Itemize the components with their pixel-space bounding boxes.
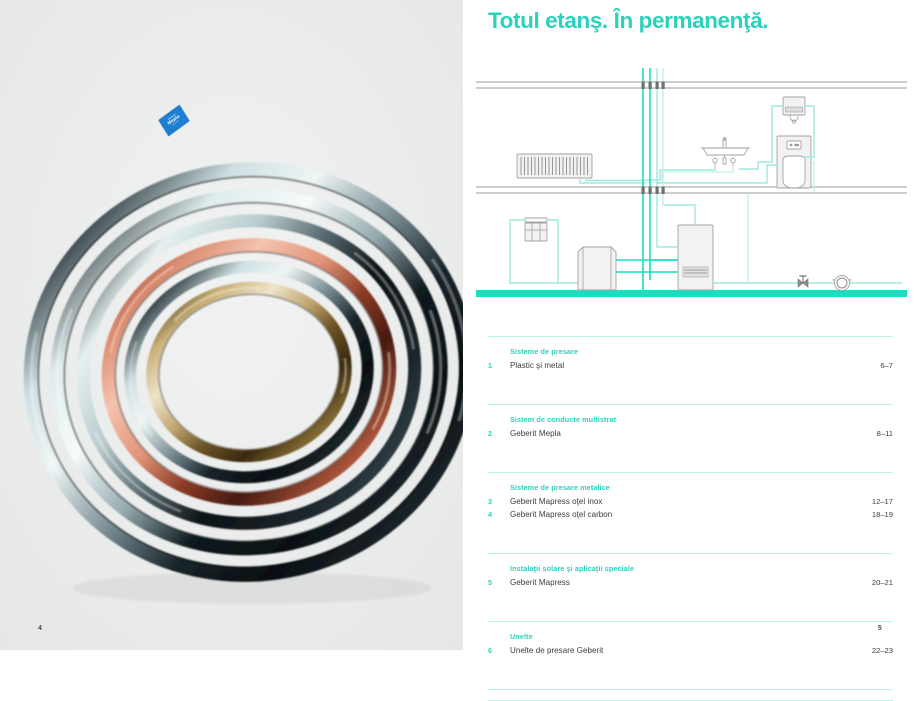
toc-entry-title: Unelte de presare Geberit — [510, 644, 603, 657]
toc-spacer — [488, 521, 893, 541]
toc-entry-number: 6 — [488, 644, 502, 657]
page-title: Totul etanş. În permanenţă. — [488, 8, 768, 34]
boiler-heating-return — [657, 212, 678, 247]
page-number-right: 5 — [878, 625, 882, 632]
toc-category-label: Sistem de conducte multistrat — [510, 415, 893, 424]
toc-entry-title: Geberit Mepla — [510, 427, 561, 440]
wall-water-heater-icon — [783, 97, 805, 123]
toc-block: Instalaţii solare şi aplicaţii speciale … — [488, 553, 893, 621]
toc-entry-pages: 18–19 — [872, 508, 893, 521]
toc-entry[interactable]: 1 Plastic şi metal 6–7 — [488, 359, 893, 372]
boiler-icon — [678, 225, 713, 290]
toc-entry[interactable]: 3 Geberit Mapress oţel inox 12–17 — [488, 495, 893, 508]
slab-penetrations — [642, 82, 665, 195]
toc-entry-title: Geberit Mapress oţel carbon — [510, 508, 612, 521]
washing-machine-icon — [525, 218, 547, 241]
toc-entry-pages: 22–23 — [872, 644, 893, 657]
toc-block: Sisteme de presare 1 Plastic şi metal 6–… — [488, 336, 893, 404]
toc-entry-title: Plastic şi metal — [510, 359, 564, 372]
water-heater-supply-pipe — [739, 106, 783, 169]
toc-category-label: Sisteme de presare — [510, 347, 893, 356]
toc-spacer — [488, 589, 893, 609]
right-page: Totul etanş. În permanenţă. .slab { stro… — [463, 0, 920, 650]
coiled-pipes-photo — [0, 0, 463, 650]
toc-entry-pages: 20–21 — [872, 576, 893, 589]
toc-entry-number: 2 — [488, 427, 502, 440]
building-installation-schematic: .slab { stroke:#9b9b9b; stroke-width:1.1… — [470, 62, 913, 302]
washbasin-icon — [701, 137, 750, 166]
basement-floor-band — [476, 290, 907, 297]
toc-entry[interactable]: 5 Geberit Mapress 20–21 — [488, 576, 893, 589]
toc-category-label: Sisteme de presare metalice — [510, 483, 893, 492]
water-meter-icon — [833, 276, 852, 291]
toc-entry-title: Geberit Mapress oţel inox — [510, 495, 602, 508]
toc-entry-number: 5 — [488, 576, 502, 589]
catalogue-spread: Geberit Mepla 20 x 2,5 4 Totul etanş. În… — [0, 0, 920, 650]
boiler-flue-pipe — [663, 205, 695, 225]
floor-slab — [476, 187, 907, 193]
radiator-return-pipe — [586, 178, 646, 181]
radiator-icon — [517, 154, 592, 178]
toc-entry-number: 4 — [488, 508, 502, 521]
toc-spacer — [488, 372, 893, 392]
wc-supply-pipe — [656, 165, 777, 183]
hot-water-tank-icon — [578, 247, 616, 290]
toc-block: Unelte 6 Unelte de presare Geberit 22–23 — [488, 621, 893, 689]
appliance-drain-pipe — [547, 220, 558, 283]
toc-entry[interactable]: 4 Geberit Mapress oţel carbon 18–19 — [488, 508, 893, 521]
toc-category-label: Instalaţii solare şi aplicaţii speciale — [510, 564, 893, 573]
toc-entry[interactable]: 2 Geberit Mepla 8–11 — [488, 427, 893, 440]
toc-entry-pages: 8–11 — [877, 427, 893, 440]
left-page: Geberit Mepla 20 x 2,5 4 — [0, 0, 463, 650]
toc-block: Sistem de conducte multistrat 2 Geberit … — [488, 404, 893, 472]
toilet-icon — [777, 136, 811, 188]
wc-drain-pipe — [811, 162, 814, 193]
toc-block: Sisteme de presare metalice 3 Geberit Ma… — [488, 472, 893, 553]
toc-entry-pages: 6–7 — [880, 359, 893, 372]
page-number-left: 4 — [38, 625, 42, 632]
toc-entry-number: 3 — [488, 495, 502, 508]
table-of-contents: Sisteme de presare 1 Plastic şi metal 6–… — [488, 336, 893, 701]
toc-spacer — [488, 440, 893, 460]
coil-illustration — [0, 0, 463, 650]
toc-entry-title: Geberit Mapress — [510, 576, 570, 589]
toc-entry-pages: 12–17 — [872, 495, 893, 508]
ceiling-slab — [476, 82, 907, 88]
toc-entry[interactable]: 6 Unelte de presare Geberit 22–23 — [488, 644, 893, 657]
shut-off-valve-icon — [798, 276, 808, 287]
toc-closing-rule — [488, 689, 893, 701]
toc-entry-number: 1 — [488, 359, 502, 372]
toc-category-label: Unelte — [510, 632, 893, 641]
toc-spacer — [488, 657, 893, 677]
